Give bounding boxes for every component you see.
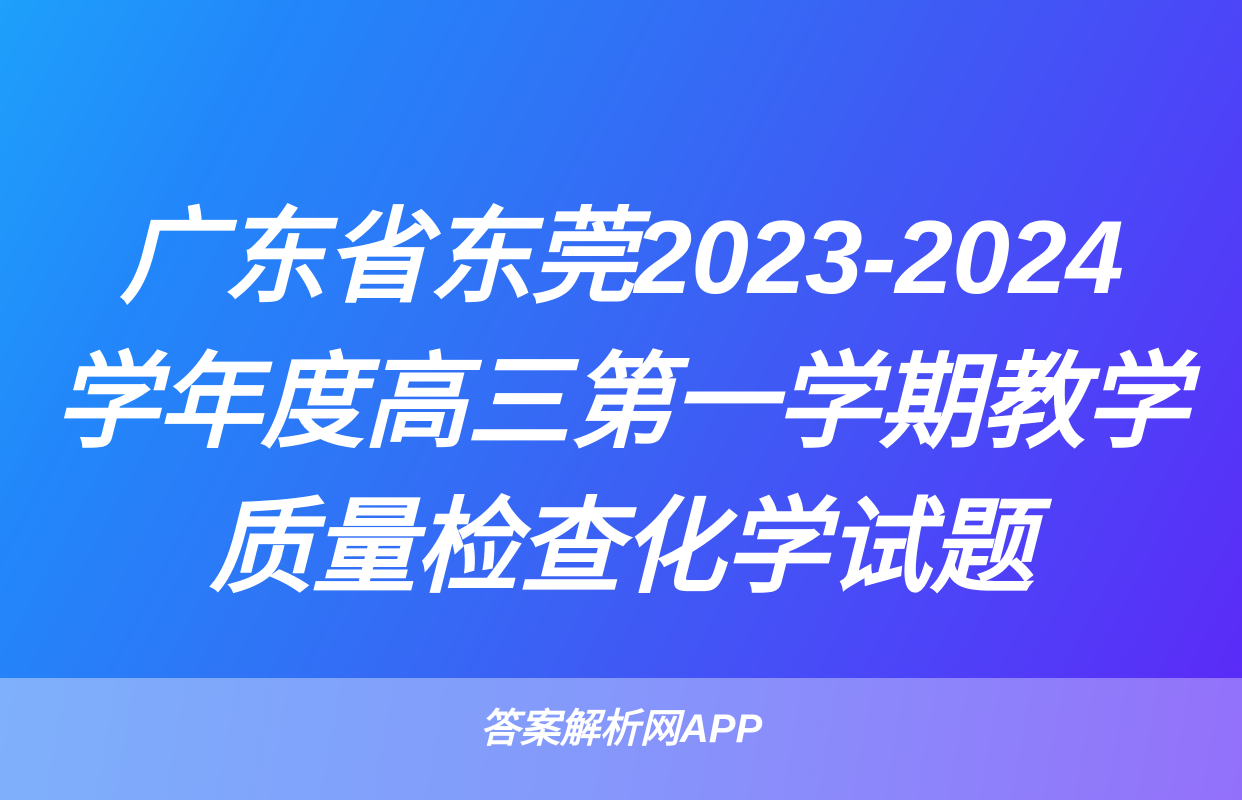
- watermark: 答案解析网APP: [0, 703, 1242, 755]
- title-line-2: 学年度高三第一学期教学: [0, 331, 1242, 476]
- page-title: 广东省东莞2023-2024 学年度高三第一学期教学 质量检查化学试题: [0, 186, 1242, 621]
- poster-canvas: 广东省东莞2023-2024 学年度高三第一学期教学 质量检查化学试题 答案解析…: [0, 0, 1242, 800]
- title-line-1: 广东省东莞2023-2024: [0, 186, 1242, 331]
- title-line-3: 质量检查化学试题: [0, 476, 1242, 621]
- watermark-label: 答案解析网APP: [480, 703, 762, 755]
